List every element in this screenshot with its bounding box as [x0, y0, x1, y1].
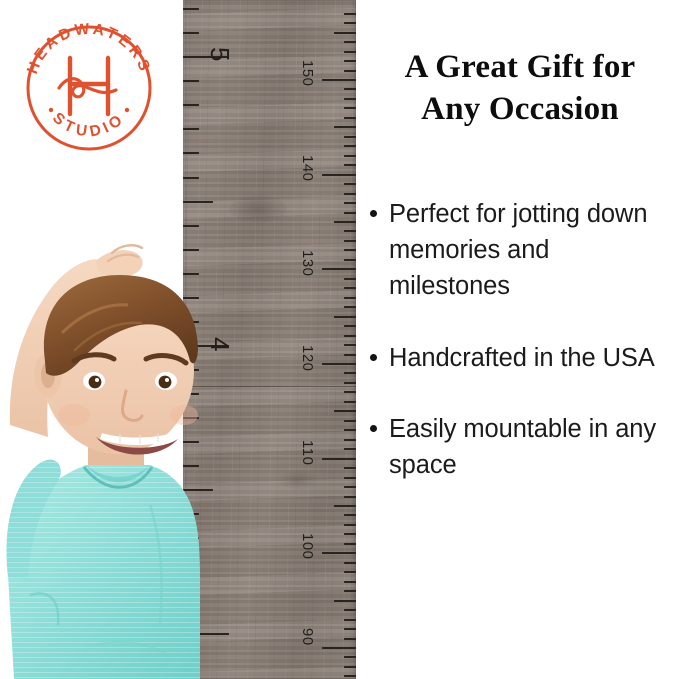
ruler-tick-cm: [344, 562, 356, 564]
ruler-tick-cm: [344, 571, 356, 573]
ruler-tick-cm: [344, 486, 356, 488]
ruler-tick-inch: [183, 8, 199, 10]
ruler-tick-cm: [322, 647, 356, 649]
ruler-tick-cm: [344, 60, 356, 62]
ruler-tick-cm: [344, 212, 356, 214]
bullet-text: Easily mountable in any space: [389, 411, 676, 483]
ruler-tick-cm: [344, 382, 356, 384]
wood-knot-secondary: [278, 470, 318, 490]
ruler-label-cm: 120: [299, 345, 316, 372]
headline-line-1: A Great Gift for: [370, 46, 670, 88]
ruler-tick-cm: [344, 401, 356, 403]
wood-knot: [229, 195, 287, 223]
product-photo-panel: 1501401301201101009054: [0, 0, 356, 679]
ruler-tick-cm: [344, 164, 356, 166]
ruler-tick-cm: [344, 145, 356, 147]
product-feature-graphic: 1501401301201101009054: [0, 0, 679, 679]
growth-chart-ruler: 1501401301201101009054: [183, 0, 356, 679]
logo-bottom-text: STUDIO: [49, 109, 129, 140]
ruler-tick-cm: [334, 221, 356, 223]
ruler-tick-cm: [344, 202, 356, 204]
ruler-tick-cm: [344, 666, 356, 668]
ruler-tick-cm: [344, 136, 356, 138]
list-item: Perfect for jotting down memories and mi…: [368, 196, 676, 305]
ruler-tick-cm: [322, 458, 356, 460]
ruler-label-cm: 150: [299, 60, 316, 87]
ruler-tick-cm: [322, 363, 356, 365]
ruler-tick-cm: [344, 287, 356, 289]
ruler-tick-cm: [344, 543, 356, 545]
ruler-tick-cm: [344, 297, 356, 299]
ruler-tick-cm: [344, 259, 356, 261]
ruler-label-cm: 100: [299, 533, 316, 560]
ruler-tick-cm: [334, 600, 356, 602]
bullet-dot-icon: [370, 354, 377, 361]
headline-line-2: Any Occasion: [370, 88, 670, 130]
plank-seam-line: [183, 386, 356, 387]
ruler-tick-cm: [344, 619, 356, 621]
ruler-tick-cm: [322, 79, 356, 81]
ruler-tick-cm: [344, 581, 356, 583]
ruler-tick-cm: [344, 70, 356, 72]
bullet-text: Handcrafted in the USA: [389, 340, 655, 376]
ruler-tick-cm: [344, 467, 356, 469]
ruler-tick-cm: [322, 174, 356, 176]
ruler-tick-cm: [344, 496, 356, 498]
bullet-dot-icon: [370, 210, 377, 217]
ruler-tick-cm: [344, 344, 356, 346]
ruler-label-cm: 90: [299, 628, 316, 646]
list-item: Handcrafted in the USA: [368, 340, 676, 376]
ruler-tick-cm: [344, 335, 356, 337]
list-item: Easily mountable in any space: [368, 411, 676, 483]
ruler-tick-cm: [344, 117, 356, 119]
ruler-tick-cm: [344, 240, 356, 242]
bullet-text: Perfect for jotting down memories and mi…: [389, 196, 676, 305]
ruler-tick-cm: [344, 98, 356, 100]
ruler-tick-cm: [344, 193, 356, 195]
ruler-tick-cm: [344, 524, 356, 526]
bullet-dot-icon: [370, 425, 377, 432]
ruler-tick-cm: [334, 505, 356, 507]
ruler-tick-cm: [344, 448, 356, 450]
ruler-label-cm: 130: [299, 250, 316, 277]
ruler-tick-cm: [344, 477, 356, 479]
headwaters-studio-logo: HEADWATERS STUDIO: [15, 14, 163, 162]
ruler-tick-cm: [344, 13, 356, 15]
logo-top-text: HEADWATERS: [24, 20, 154, 76]
ruler-tick-cm: [344, 354, 356, 356]
ruler-tick-cm: [344, 638, 356, 640]
ruler-tick-cm: [344, 420, 356, 422]
feature-bullet-list: Perfect for jotting down memories and mi…: [368, 196, 676, 518]
ruler-tick-cm: [344, 609, 356, 611]
ruler-tick-cm: [344, 41, 356, 43]
svg-text:HEADWATERS: HEADWATERS: [24, 20, 154, 76]
child-photo: [0, 175, 200, 679]
ruler-tick-cm: [344, 278, 356, 280]
ruler-tick-cm: [334, 32, 356, 34]
ruler-tick-cm: [344, 51, 356, 53]
ruler-tick-inch: [183, 80, 199, 82]
page-title: A Great Gift for Any Occasion: [370, 46, 670, 130]
ruler-tick-cm: [344, 183, 356, 185]
ruler-label-cm: 140: [299, 155, 316, 182]
ruler-tick-cm: [344, 22, 356, 24]
marketing-copy-panel: A Great Gift for Any Occasion Perfect fo…: [356, 0, 679, 679]
ruler-label-feet: 4: [204, 337, 235, 352]
ruler-tick-cm: [344, 325, 356, 327]
ruler-tick-cm: [344, 439, 356, 441]
ruler-tick-cm: [344, 628, 356, 630]
ruler-tick-cm: [344, 155, 356, 157]
ruler-label-feet: 5: [204, 47, 235, 62]
svg-text:STUDIO: STUDIO: [49, 109, 129, 140]
ruler-tick-cm: [334, 316, 356, 318]
ruler-label-cm: 110: [299, 440, 316, 465]
ruler-tick-inch: [183, 32, 199, 34]
ruler-tick-cm: [344, 590, 356, 592]
ruler-tick-cm: [344, 306, 356, 308]
ruler-tick-cm: [344, 429, 356, 431]
